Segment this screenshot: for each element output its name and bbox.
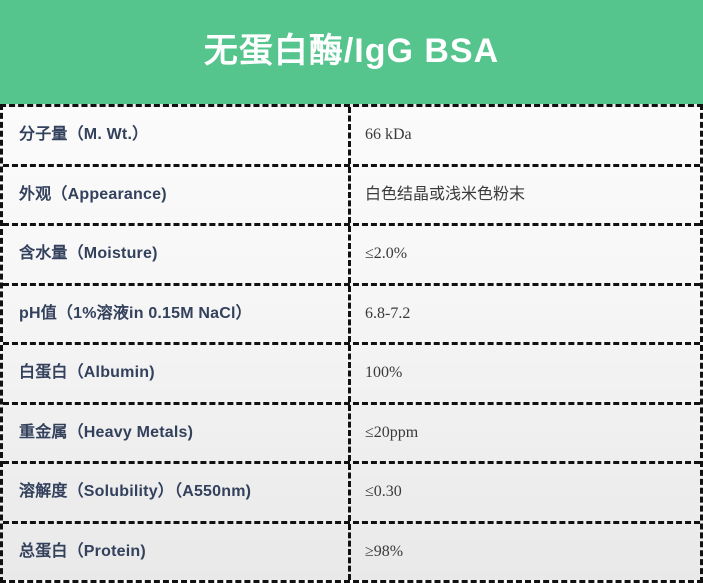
spec-label: 总蛋白（Protein) bbox=[3, 524, 351, 581]
spec-value: 白色结晶或浅米色粉末 bbox=[351, 167, 700, 224]
spec-value: 100% bbox=[351, 345, 700, 402]
spec-value: ≤2.0% bbox=[351, 226, 700, 283]
table-row: 溶解度（Solubility）（A550nm) ≤0.30 bbox=[3, 464, 700, 524]
spec-value: ≤20ppm bbox=[351, 405, 700, 462]
spec-value: 6.8-7.2 bbox=[351, 286, 700, 343]
spec-value: ≤0.30 bbox=[351, 464, 700, 521]
table-row: 重金属（Heavy Metals) ≤20ppm bbox=[3, 405, 700, 465]
product-spec-card: 无蛋白酶/IgG BSA 分子量（M. Wt.） 66 kDa 外观（Appea… bbox=[0, 0, 703, 583]
spec-label: 溶解度（Solubility）（A550nm) bbox=[3, 464, 351, 521]
specification-table: 分子量（M. Wt.） 66 kDa 外观（Appearance) 白色结晶或浅… bbox=[0, 104, 703, 583]
spec-label: pH值（1%溶液in 0.15M NaCl） bbox=[3, 286, 351, 343]
spec-value: ≥98% bbox=[351, 524, 700, 581]
spec-label: 重金属（Heavy Metals) bbox=[3, 405, 351, 462]
table-row: 外观（Appearance) 白色结晶或浅米色粉末 bbox=[3, 167, 700, 227]
table-row: 分子量（M. Wt.） 66 kDa bbox=[3, 107, 700, 167]
spec-value: 66 kDa bbox=[351, 107, 700, 164]
table-row: 总蛋白（Protein) ≥98% bbox=[3, 524, 700, 581]
card-header: 无蛋白酶/IgG BSA bbox=[0, 0, 703, 104]
table-row: 含水量（Moisture) ≤2.0% bbox=[3, 226, 700, 286]
table-row: 白蛋白（Albumin) 100% bbox=[3, 345, 700, 405]
spec-label: 外观（Appearance) bbox=[3, 167, 351, 224]
page-title: 无蛋白酶/IgG BSA bbox=[204, 33, 499, 70]
spec-label: 分子量（M. Wt.） bbox=[3, 107, 351, 164]
table-row: pH值（1%溶液in 0.15M NaCl） 6.8-7.2 bbox=[3, 286, 700, 346]
spec-label: 白蛋白（Albumin) bbox=[3, 345, 351, 402]
spec-label: 含水量（Moisture) bbox=[3, 226, 351, 283]
